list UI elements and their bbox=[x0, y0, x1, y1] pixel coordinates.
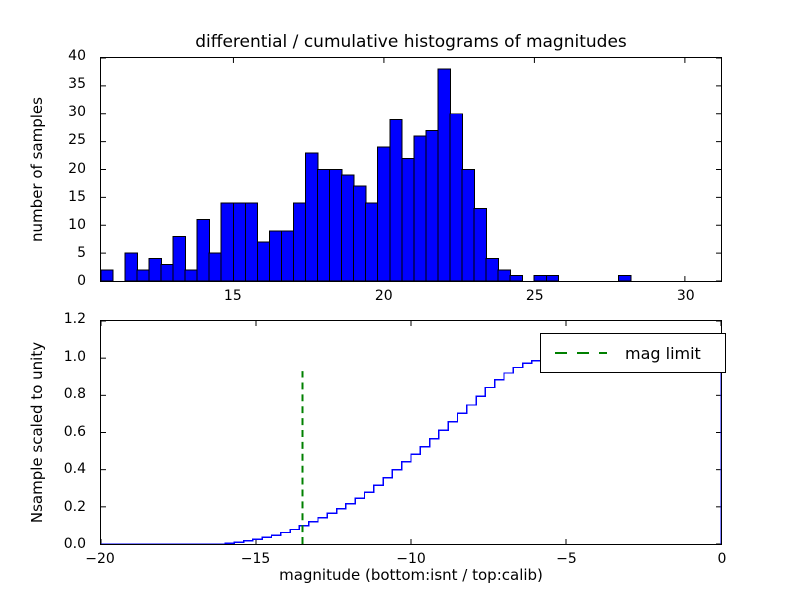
bottom-axes-ylabel: Nsample scaled to unity bbox=[28, 320, 46, 545]
xtick-label: −15 bbox=[226, 552, 286, 566]
xtick-label: −20 bbox=[70, 552, 130, 566]
ytick-label-text: 0 bbox=[77, 274, 94, 288]
ytick-label-text: 20 bbox=[68, 162, 94, 176]
ytick-label-text: 40 bbox=[68, 49, 94, 63]
legend-label: mag limit bbox=[625, 344, 701, 363]
figure-title: differential / cumulative histograms of … bbox=[100, 32, 722, 52]
legend: mag limit bbox=[540, 333, 726, 373]
xtick-label: −10 bbox=[381, 552, 441, 566]
ytick-label-text: 0.4 bbox=[64, 462, 94, 476]
ytick-label-text: 1.2 bbox=[64, 312, 94, 326]
ytick-label-text: 0.6 bbox=[64, 425, 94, 439]
xtick-label: 25 bbox=[505, 289, 565, 303]
ytick-label-text: 10 bbox=[68, 218, 94, 232]
xtick-label: 30 bbox=[656, 289, 716, 303]
ytick-label-text: 35 bbox=[68, 77, 94, 91]
ytick-label-text: 30 bbox=[68, 105, 94, 119]
ytick-label-text: 15 bbox=[68, 190, 94, 204]
ytick-label-text: 1.0 bbox=[64, 350, 94, 364]
bottom-axes-xlabel: magnitude (bottom:isnt / top:calib) bbox=[100, 566, 722, 584]
ytick-label-text: 0.2 bbox=[64, 500, 94, 514]
xtick-label: 20 bbox=[354, 289, 414, 303]
xtick-label: 15 bbox=[203, 289, 263, 303]
top-histogram-axes bbox=[100, 57, 722, 282]
top-histogram-canvas bbox=[101, 58, 721, 281]
ytick-label-text: 25 bbox=[68, 133, 94, 147]
ytick-label-text: 0.0 bbox=[64, 537, 94, 551]
matplotlib-figure: differential / cumulative histograms of … bbox=[0, 0, 800, 600]
ytick-label-text: 5 bbox=[77, 246, 94, 260]
ytick-label-text: 0.8 bbox=[64, 387, 94, 401]
xtick-label: 0 bbox=[692, 552, 752, 566]
top-axes-ylabel: number of samples bbox=[28, 57, 46, 282]
dashed-line-icon bbox=[553, 347, 609, 359]
xtick-label: −5 bbox=[537, 552, 597, 566]
